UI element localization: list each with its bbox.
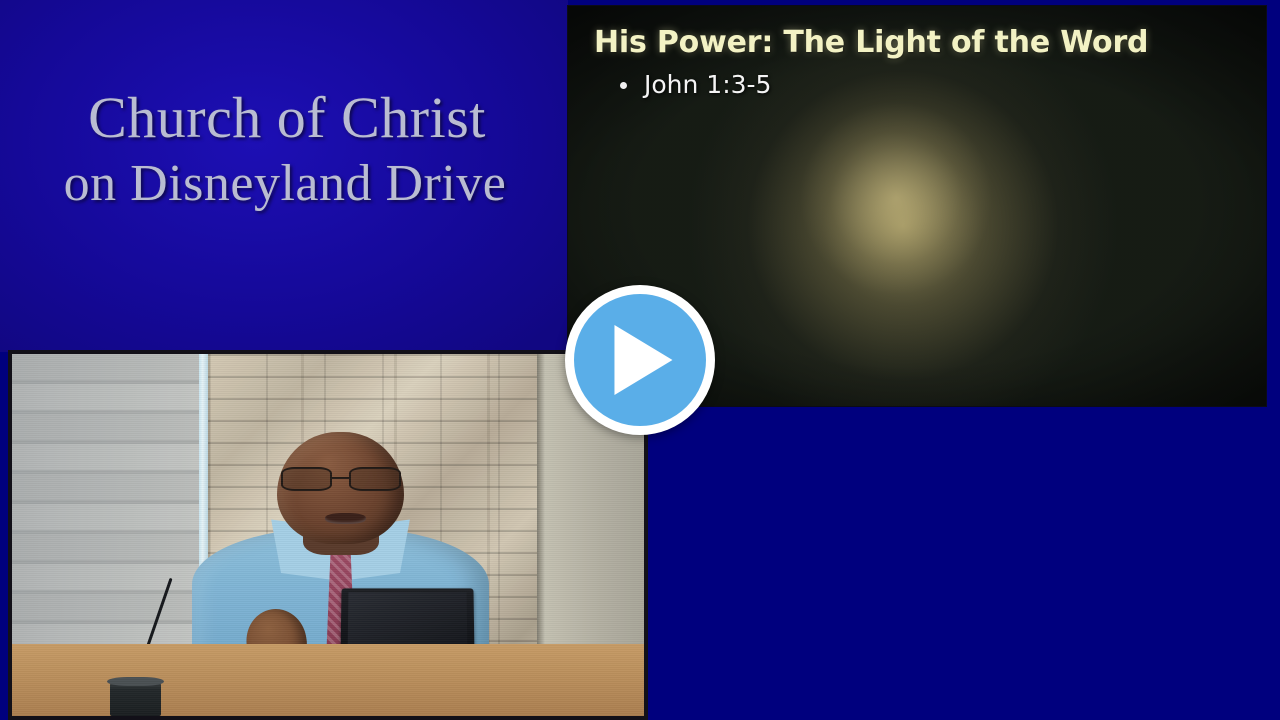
video-thumbnail[interactable] [8,350,648,720]
church-name-line-2: on Disneyland Drive [0,157,568,210]
eyeglass-lens-left [281,467,333,491]
slide-bullet-list: John 1:3-5 [594,69,1244,100]
church-name-line-1: Church of Christ [0,88,568,147]
play-button[interactable] [565,285,715,435]
slide-content: His Power: The Light of the Word John 1:… [568,6,1266,100]
video-player-stage[interactable]: Church of Christ on Disneyland Drive His… [0,0,1280,720]
tumbler-cup [110,682,161,716]
video-scene [12,354,644,716]
eyeglasses-icon [281,467,401,491]
eyeglass-lens-right [349,467,401,491]
play-triangle-icon [614,325,672,395]
speaker-mouth [325,513,366,524]
eyeglass-bridge [332,477,349,480]
church-banner-panel: Church of Christ on Disneyland Drive [0,0,568,352]
slide-bullet-item: John 1:3-5 [612,69,1244,100]
church-banner-text: Church of Christ on Disneyland Drive [0,88,568,210]
slide-title: His Power: The Light of the Word [594,26,1244,60]
